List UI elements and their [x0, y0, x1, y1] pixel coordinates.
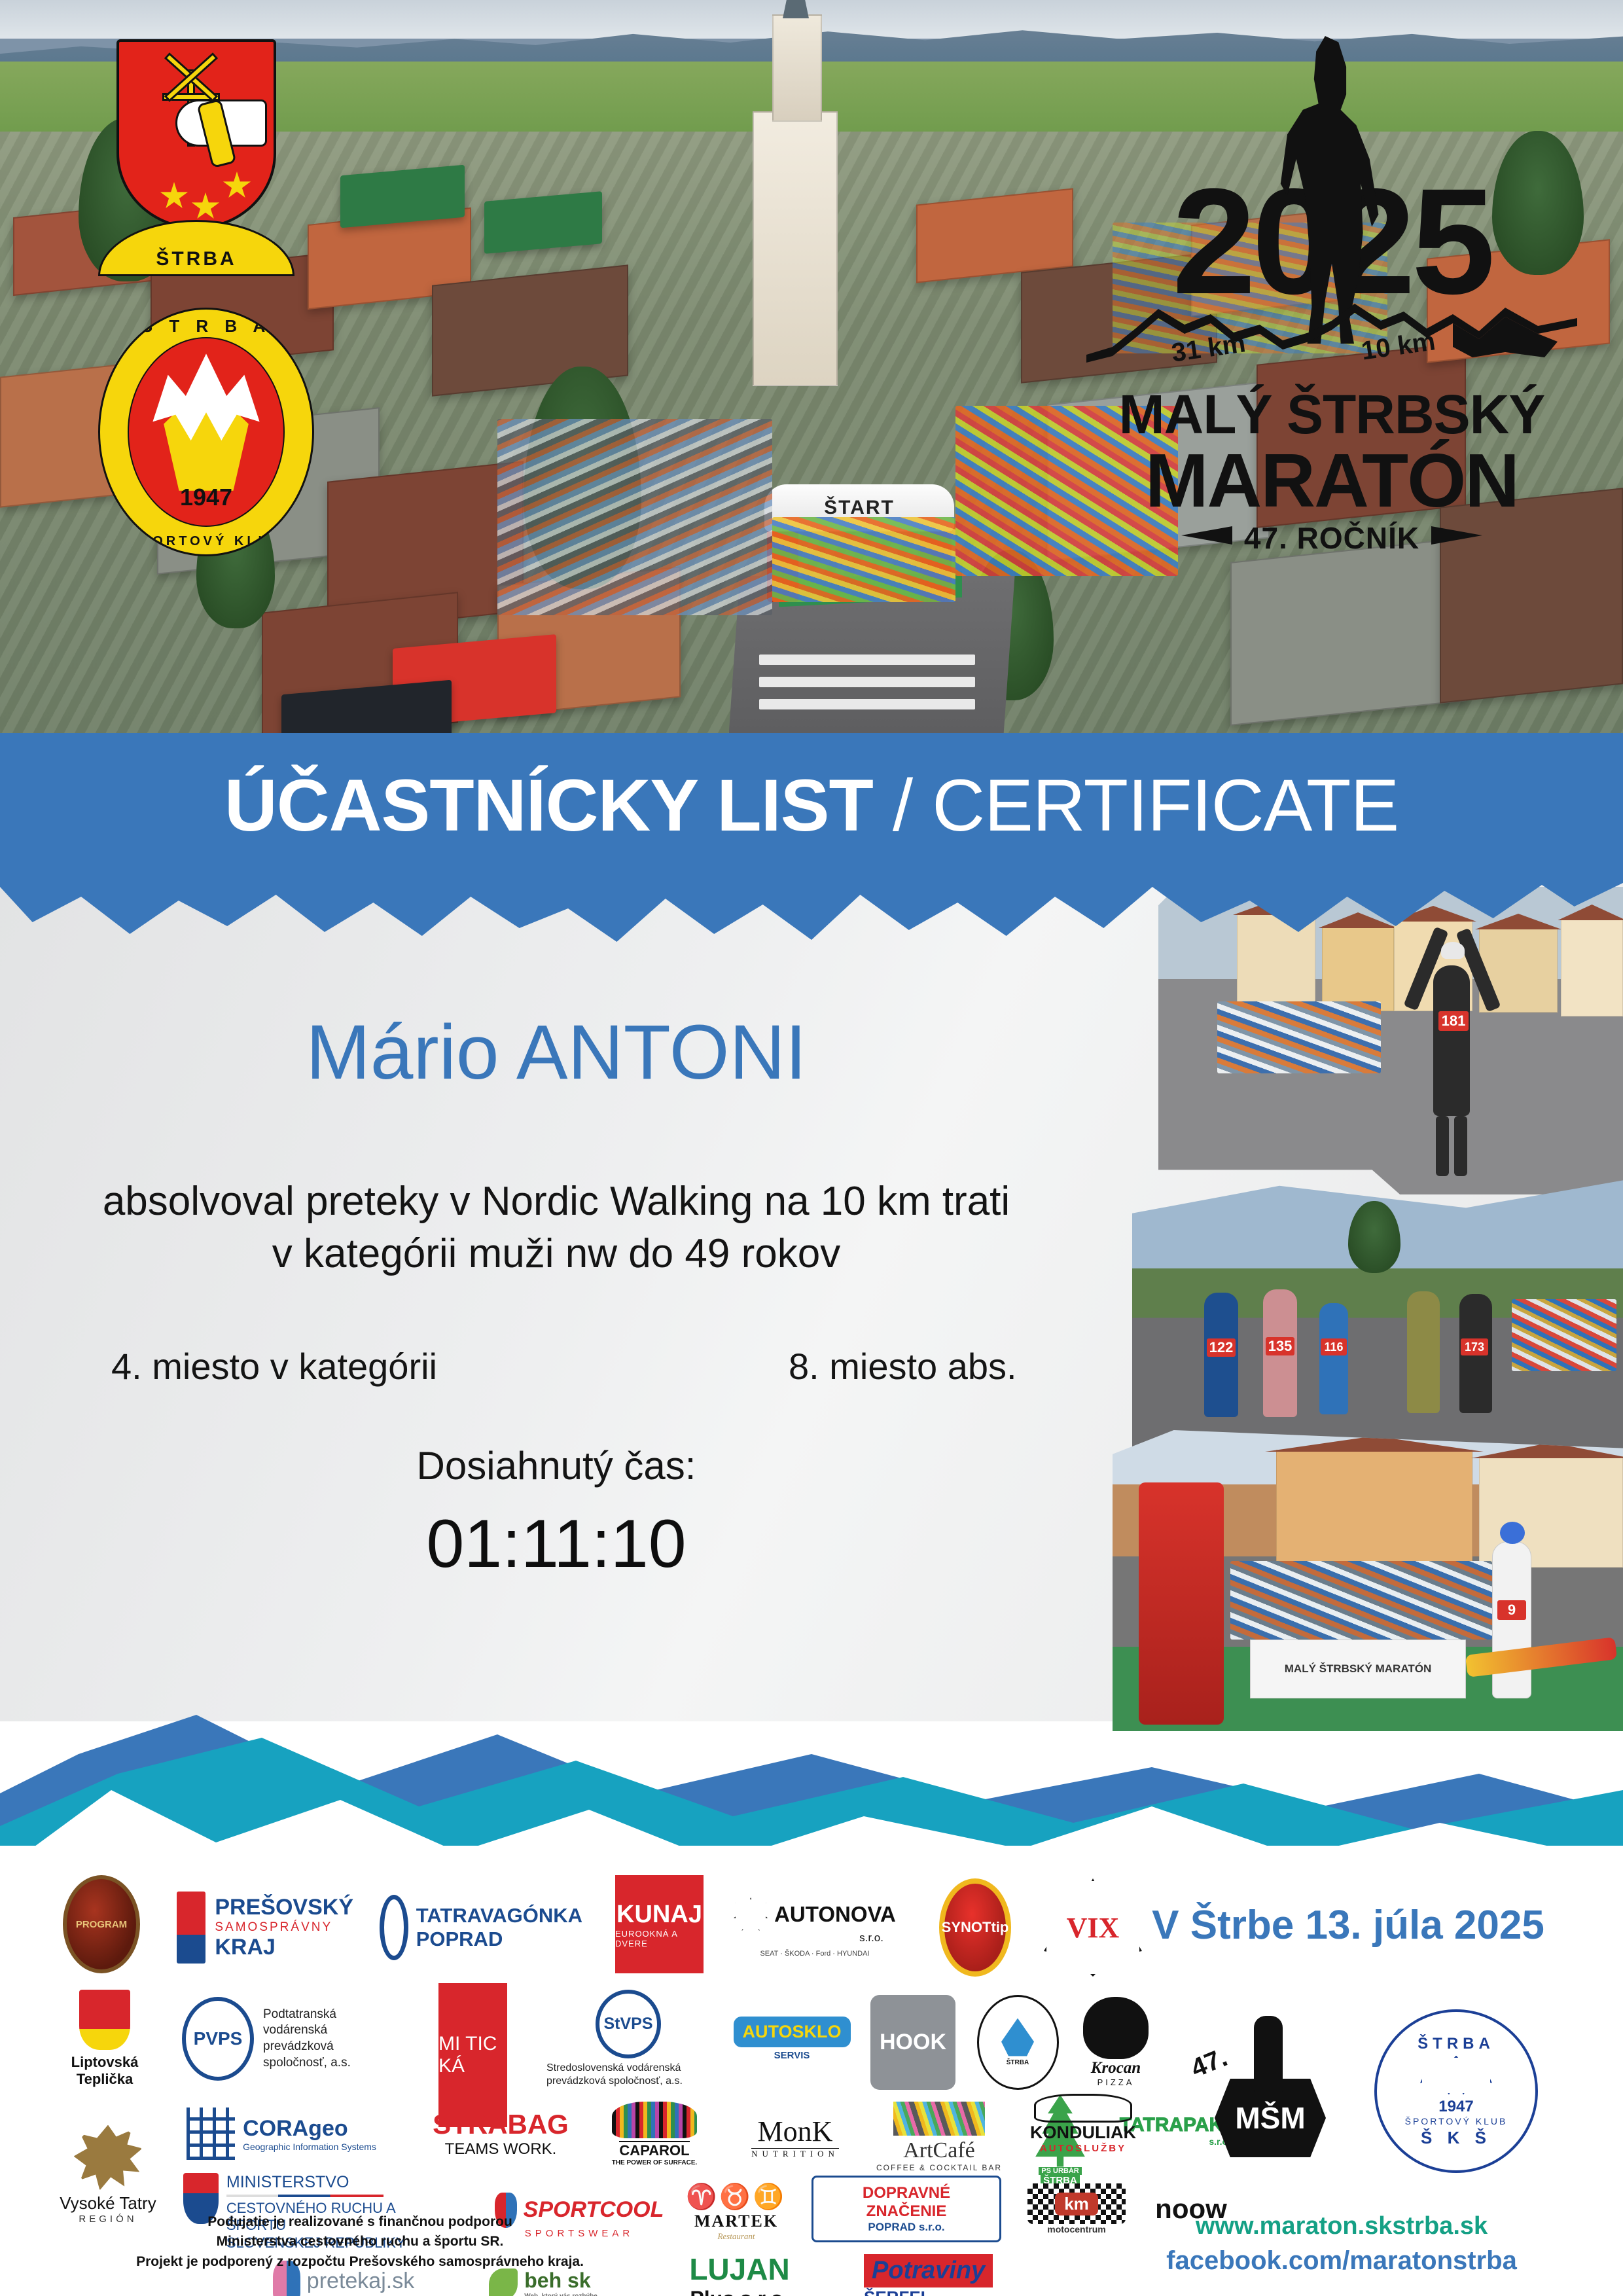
- sponsor-label: AUTONOVA: [774, 1902, 896, 1927]
- sponsor-label: MonK: [758, 2115, 833, 2148]
- sponsor-label: CAPAROL: [619, 2141, 689, 2159]
- shield-icon: [116, 39, 276, 229]
- sponsor-label: Liptovská: [71, 2054, 139, 2071]
- bib-number: 181: [1438, 1011, 1469, 1031]
- sponsor-sublabel: ŠERFEL: [864, 2287, 931, 2296]
- sponsor-label: km: [1055, 2193, 1098, 2215]
- place-in-category: 4. miesto v kategórii: [111, 1345, 437, 1388]
- artcafe-stripes-icon: [893, 2102, 985, 2136]
- sponsor-sublabel: EUROOKNÁ A DVERE: [615, 1929, 704, 1948]
- photo-collage: 181 122 135 116 173 MALÝ ŠTRBSKÝ MARATÓN: [1113, 887, 1623, 1731]
- sponsor-sublabel: Stredoslovenská vodárenská prevádzková s…: [546, 2062, 710, 2088]
- sponsor-dopravne-znacenie: DOPRAVNÉ ZNAČENIE POPRAD s.r.o.: [811, 2173, 1001, 2245]
- caparol-elephant-icon: [612, 2102, 697, 2138]
- sponsor-label: CORAgeo: [243, 2116, 376, 2142]
- sponsor-artcafe: ArtCafé COFFEE & COCKTAIL BAR: [874, 2091, 1005, 2183]
- sponsor-label: DOPRAVNÉ ZNAČENIE: [825, 2184, 988, 2221]
- sponsor-sublabel: SERVIS: [774, 2050, 810, 2061]
- bib-number: 122: [1207, 1338, 1236, 1357]
- msm-badge: 47. MŠM: [1191, 2016, 1342, 2166]
- program-trencin-badge-icon: PROGRAM: [63, 1875, 140, 1973]
- bib-number: 135: [1266, 1337, 1294, 1355]
- autonova-star-icon: [734, 1897, 768, 1931]
- bib-number: 116: [1321, 1338, 1347, 1355]
- beh-sk-mark-icon: [489, 2269, 518, 2296]
- msm-runner-icon: [1254, 2016, 1283, 2094]
- sks-stamp-year: 1947: [1438, 2098, 1473, 2116]
- sponsor-sublabel2: KRAJ: [215, 1935, 353, 1960]
- fine-print: Podujatie je realizované s finančnou pod…: [72, 2212, 648, 2272]
- bib-number: 173: [1461, 1338, 1488, 1355]
- sponsor-sublabel: POPRAD s.r.o.: [825, 2221, 988, 2234]
- title-separator: /: [873, 764, 932, 846]
- facebook-link[interactable]: facebook.com/maratonstrba: [1126, 2246, 1558, 2276]
- sponsor-autosklo-servis: AUTOSKLO SERVIS: [740, 2000, 844, 2078]
- sponsor-sublabel: motocentrum: [1047, 2224, 1105, 2234]
- sponsor-label: PREŠOVSKÝ: [215, 1895, 353, 1920]
- sponsor-label: PVPS: [182, 1997, 254, 2081]
- participant-name: Mário ANTONI: [0, 1008, 1113, 1097]
- sponsor-sublabel: Geographic Information Systems: [243, 2142, 376, 2152]
- sponsor-presovsky-kraj: PREŠOVSKÝ SAMOSPRÁVNY KRAJ: [177, 1878, 353, 1977]
- sks-stamp-mountain-icon: [1420, 2056, 1492, 2095]
- fine-print-line-2: Ministerstva cestovného ruchu a športu S…: [72, 2232, 648, 2251]
- sponsor-sublabel: SAMOSPRÁVNY: [215, 1920, 353, 1935]
- certificate-title-banner: ÚČASTNÍCKY LIST / CERTIFICATE: [0, 733, 1623, 877]
- sponsor-sublabel: s.r.o.: [859, 1931, 883, 1945]
- sponsor-km-motocentrum: km motocentrum: [1021, 2173, 1132, 2245]
- sponsor-label: Krocan: [1091, 2059, 1141, 2077]
- sponsor-label: Vysoké Tatry: [60, 2193, 156, 2214]
- sponsor-sublabel: Plus s.r.o.: [690, 2287, 789, 2296]
- strba-ribbon: ŠTRBA: [98, 220, 294, 276]
- sks-year-label: 1947: [100, 484, 312, 511]
- sks-club-emblem: Š T R B A 1947 ŠPORTOVÝ KLUB: [98, 308, 314, 556]
- sponsor-label: HOOK: [880, 2030, 946, 2055]
- tatravagonka-mark-icon: [380, 1895, 408, 1960]
- sponsor-label: pretekaj.sk: [307, 2269, 414, 2294]
- mountain-wave-divider: [0, 1676, 1623, 1872]
- place-absolute: 8. miesto abs.: [789, 1345, 1017, 1388]
- sponsor-sublabel: AUTOSLUŽBY: [1040, 2143, 1126, 2154]
- sks-stamp-mid: ŠPORTOVÝ KLUB: [1405, 2116, 1508, 2126]
- sponsor-sublabel: THE POWER OF SURFACE.: [612, 2159, 698, 2166]
- sks-top-arc-label: Š T R B A: [100, 316, 312, 336]
- sponsor-stvps: StVPS Stredoslovenská vodárenská prevádz…: [524, 1990, 733, 2088]
- sks-stamp-top: ŠTRBA: [1418, 2035, 1495, 2053]
- sponsor-label: MI TIC KÁ: [438, 2033, 507, 2077]
- sponsor-label: ArtCafé: [903, 2138, 975, 2163]
- sks-stamp: ŠTRBA 1947 ŠPORTOVÝ KLUB Š K Š: [1374, 2009, 1538, 2173]
- liptovska-teplicka-shield-icon: [79, 1990, 130, 2050]
- sks-bottom-arc-label: ŠPORTOVÝ KLUB: [100, 534, 312, 549]
- title-light: CERTIFICATE: [932, 764, 1399, 846]
- vysoke-tatry-chamois-icon: [74, 2125, 143, 2191]
- sponsor-lujan-plus: LUJAN Plus s.r.o.: [674, 2245, 805, 2296]
- sponsor-label: StVPS: [596, 1990, 661, 2058]
- race-name-line2: MARATÓN: [1080, 437, 1584, 524]
- strba-coat-of-arms: ŠTRBA: [98, 33, 294, 281]
- finish-time: 01:11:10: [0, 1505, 1113, 1583]
- time-label: Dosiahnutý čas:: [0, 1443, 1113, 1488]
- sponsor-program-trencin: PROGRAM: [52, 1872, 151, 1977]
- sponsor-sublabel: TEAMS WORK.: [445, 2140, 557, 2159]
- sponsor-synottip: SYNOTtip: [929, 1872, 1021, 1983]
- photo-runners-group: 122 135 116 173: [1132, 1175, 1623, 1450]
- sponsor-liptovska-teplicka: Liptovská Teplička: [52, 1986, 157, 2091]
- fine-print-line-3: Projekt je podporený z rozpočtu Prešovsk…: [72, 2252, 648, 2272]
- church-building: [753, 111, 838, 386]
- sponsor-autonova: AUTONOVA s.r.o. SEAT · ŠKODA · Ford · HY…: [720, 1875, 910, 1980]
- sponsor-label: LUJAN: [689, 2251, 789, 2287]
- race-edition: 47. ROČNÍK: [1080, 520, 1584, 556]
- sponsor-strabag: STRABAG TEAMS WORK.: [425, 2098, 576, 2170]
- sponsor-krocan-pizza: Krocan PIZZA: [1073, 1993, 1158, 2091]
- sponsor-sublabel: NUTRITION: [751, 2148, 839, 2159]
- sponsor-vix: VIX: [1041, 1875, 1145, 1980]
- sponsor-label: MARTEK: [694, 2212, 778, 2231]
- photo-finisher-woman: 181: [1158, 887, 1623, 1194]
- presovsky-kraj-mark-icon: [177, 1892, 205, 1964]
- sponsor-tatravagonka: TATRAVAGÓNKA POPRAD: [380, 1878, 582, 1977]
- sponsor-sublabel: Restaurant: [717, 2231, 755, 2242]
- sponsor-kunaj: KUNAJ EUROOKNÁ A DVERE: [615, 1875, 704, 1973]
- mountain-ridge-icon: [1086, 295, 1577, 367]
- corageo-grid-icon: [187, 2108, 235, 2160]
- website-link[interactable]: www.maraton.skstrba.sk: [1126, 2212, 1558, 2240]
- sponsor-monk-nutrition: MonK NUTRITION: [733, 2101, 857, 2173]
- sponsor-label: Potraviny: [872, 2257, 985, 2284]
- sponsor-label: KUNAJ: [616, 1901, 702, 1929]
- sponsor-sublabel: Teplička: [77, 2071, 133, 2088]
- sponsor-label: VIX: [1067, 1911, 1120, 1945]
- race-logo: 2025 31 km 10 km MALÝ ŠTRBSKÝ MARATÓN 47…: [1080, 36, 1584, 586]
- sponsor-grid: PROGRAM PREŠOVSKÝ SAMOSPRÁVNY KRAJ TATRA…: [46, 1859, 1158, 2199]
- sponsor-brands: SEAT · ŠKODA · Ford · HYUNDAI: [760, 1950, 869, 1958]
- fine-print-line-1: Podujatie je realizované s finančnou pod…: [72, 2212, 648, 2232]
- pd-strba-drop-icon: [1001, 2018, 1034, 2056]
- sponsor-hook: HOOK: [864, 1993, 962, 2091]
- sponsor-pd-strba: ŠTRBA: [972, 1993, 1063, 2091]
- sks-stamp-initials: Š K Š: [1421, 2128, 1491, 2148]
- sponsor-label: PROGRAM: [76, 1919, 127, 1930]
- sponsor-label: MINISTERSTVO: [226, 2173, 458, 2192]
- sponsor-label: TATRAVAGÓNKA: [416, 1904, 582, 1928]
- bib-number: 9: [1497, 1600, 1526, 1620]
- certificate-page: ŠTART ŠTRBA: [0, 0, 1623, 2296]
- sponsor-caparol: CAPAROL THE POWER OF SURFACE.: [596, 2094, 713, 2173]
- sponsor-sublabel: Podtatranská vodárenská prevádzková spol…: [263, 2007, 401, 2072]
- kondulak-car-icon: [1034, 2094, 1132, 2123]
- sponsor-label: AUTOSKLO: [743, 2022, 842, 2041]
- sponsor-sublabel: COFFEE & COCKTAIL BAR: [876, 2163, 1002, 2172]
- sponsor-potraviny-serfel: Potraviny ŠERFEL: [864, 2248, 1027, 2296]
- sponsor-label: SYNOTtip: [939, 1878, 1011, 1977]
- sponsor-sublabel: POPRAD: [416, 1928, 582, 1951]
- achievement-line-1: absolvoval preteky v Nordic Walking na 1…: [0, 1178, 1113, 1225]
- achievement-line-2: v kategórii muži nw do 49 rokov: [0, 1230, 1113, 1277]
- issue-date: V Štrbe 13. júla 2025: [1139, 1902, 1558, 1948]
- sponsor-label: beh sk: [524, 2269, 597, 2293]
- sponsor-sublabel: Web, ktorý vás rozhýbe: [524, 2293, 597, 2296]
- sponsor-martek: ♈♉♊ MARTEK Restaurant: [681, 2170, 792, 2255]
- sponsor-pvps: PVPS Podtatranská vodárenská prevádzková…: [177, 1993, 406, 2085]
- krocan-turkey-icon: [1083, 1997, 1149, 2059]
- strba-ribbon-label: ŠTRBA: [156, 248, 236, 274]
- sponsor-corageo: CORAgeo Geographic Information Systems: [170, 2094, 393, 2173]
- footer: PROGRAM PREŠOVSKÝ SAMOSPRÁVNY KRAJ TATRA…: [0, 1846, 1623, 2296]
- sponsor-label: STRABAG: [433, 2109, 569, 2140]
- sponsor-kondulak: KONDULIAK AUTOSLUŽBY: [1021, 2081, 1145, 2166]
- sponsor-sublabel: ŠTRBA: [1007, 2059, 1029, 2066]
- msm-edition: 47.: [1187, 2043, 1232, 2084]
- title-bold: ÚČASTNÍCKY LIST: [224, 764, 873, 846]
- finish-banner-text: MALÝ ŠTRBSKÝ MARATÓN: [1285, 1662, 1431, 1676]
- sponsor-label: KONDULIAK: [1030, 2123, 1136, 2143]
